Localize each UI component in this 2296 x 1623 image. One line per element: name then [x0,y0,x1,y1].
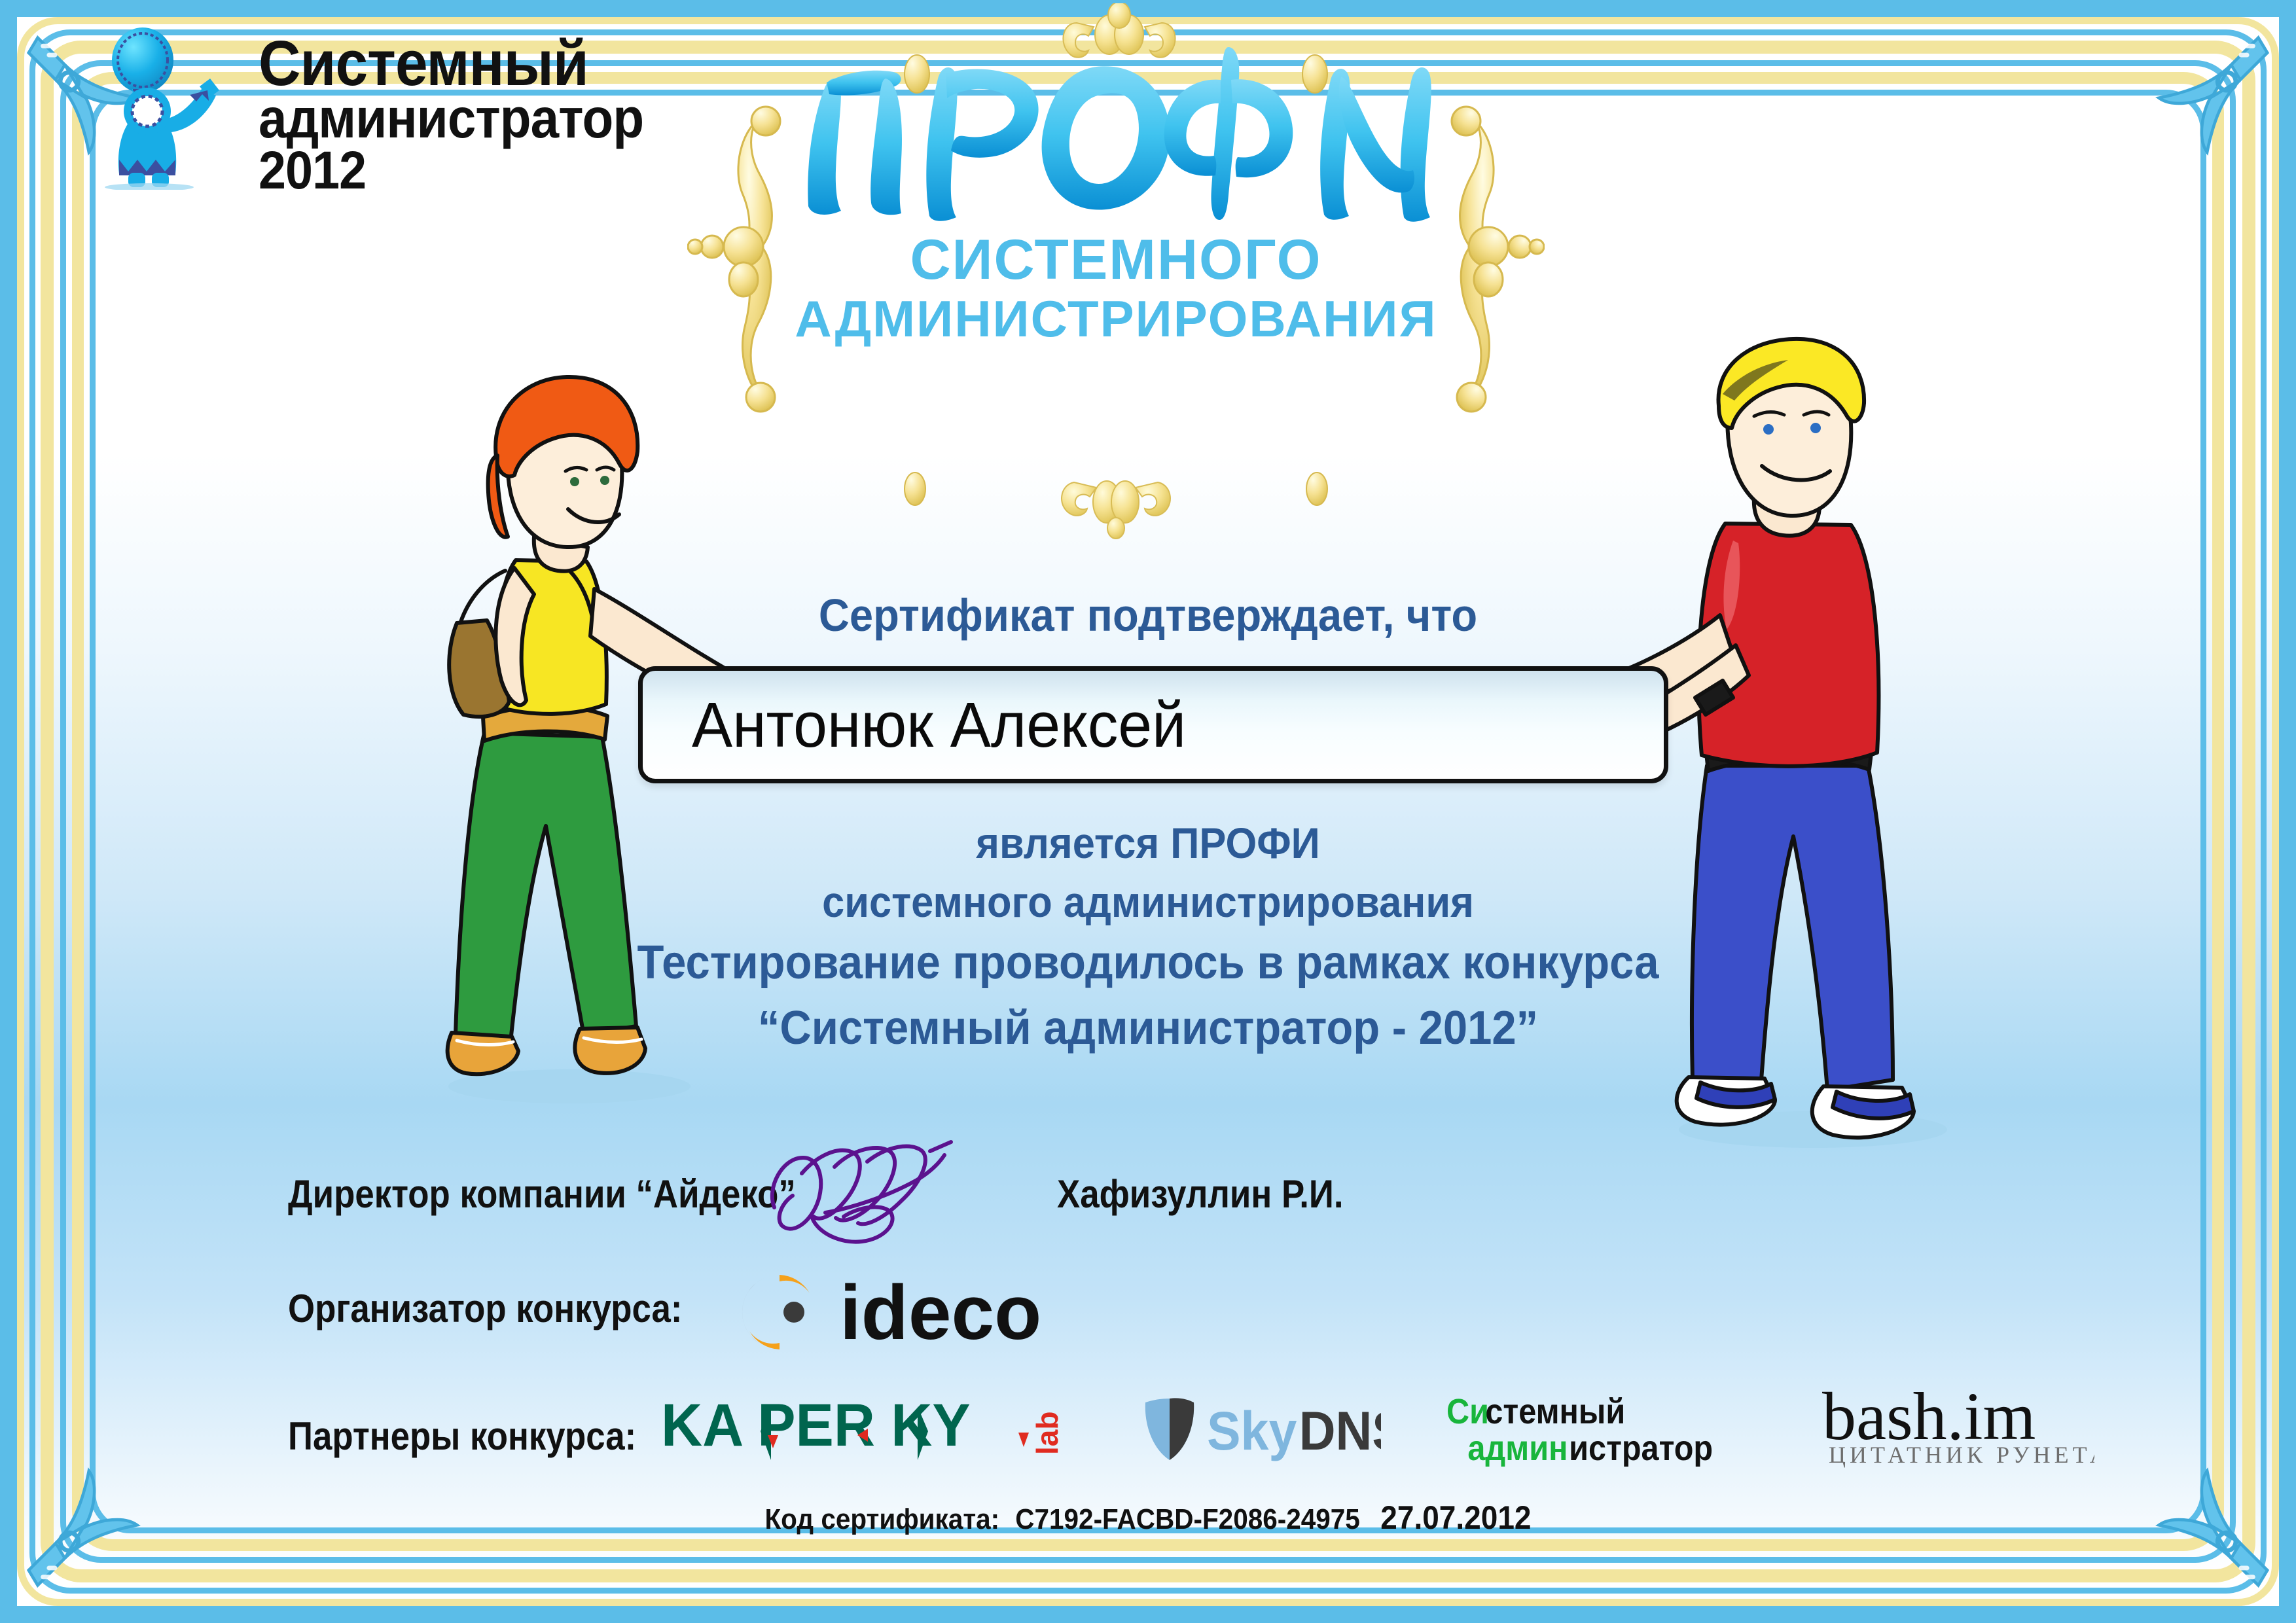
sysadmin-wordmark: Системный администратор 2012 [259,34,743,196]
pliers-corner-icon-top-right [2126,20,2276,170]
brand-line-2: администратор [259,94,704,145]
profi-wordmark [789,39,1443,223]
organizer-label: Организатор конкурса: [288,1286,682,1331]
organizer-row: Организатор конкурса: ideco [288,1263,1728,1361]
partners-label: Партнеры конкурса: [288,1414,636,1459]
issue-date: 27.07.2012 [1380,1499,1531,1536]
gold-bead-bottom-left [903,471,927,507]
certificate-code-line: Код сертификата: C7192-FACBD-F2086-24975… [92,1499,2204,1537]
svg-text:стемный: стемный [1485,1391,1625,1431]
sysadmin-2012-logo: Системный администратор 2012 [92,26,746,190]
ideco-logo: ideco [723,1263,1090,1361]
code-label: Код сертификата: [764,1503,999,1535]
svg-text:ЦИТАТНИК РУНЕТА: ЦИТАТНИК РУНЕТА [1829,1442,2094,1468]
svg-text:lab: lab [1030,1412,1064,1455]
certificate-canvas: Системный администратор 2012 [0,0,2296,1623]
partners-row: Партнеры конкурса: KA PER KY lab Sk [288,1378,2121,1482]
profi-subtitle-1: СИСТЕМНОГО [707,232,1525,288]
profi-heading-block: СИСТЕМНОГО АДМИНИСТРИРОВАНИЯ [707,39,1525,524]
kaspersky-lab-logo: KA PER KY lab [661,1392,1093,1464]
signature-title: Директор компании “Айдеко” [288,1171,796,1217]
handwritten-signature-icon [762,1135,959,1253]
svg-text:админ: админ [1467,1428,1568,1467]
svg-text:DNS: DNS [1299,1400,1381,1462]
signatory-name: Хафизуллин Р.И. [1057,1171,1344,1217]
sysadmin-magazine-logo: Си стемный админ истратор [1446,1389,1774,1467]
eskimo-with-trophy-icon [92,26,259,190]
brand-line-1: Системный [259,34,704,92]
svg-text:ideco: ideco [840,1270,1041,1356]
recipient-name-plaque: Антонюк Алексей [638,666,1668,783]
svg-text:Sky: Sky [1207,1400,1297,1462]
recipient-name: Антонюк Алексей [692,688,1186,762]
gold-ornament-bottom-center [1037,468,1194,540]
svg-text:Си: Си [1446,1391,1489,1431]
code-value: C7192-FACBD-F2086-24975 [1015,1503,1359,1535]
gold-bead-bottom-right [1305,471,1329,507]
brand-line-3: 2012 [259,146,704,195]
skydns-logo: Sky DNS [1139,1395,1381,1465]
profi-subtitle-2: АДМИНИСТРИРОВАНИЯ [707,293,1525,344]
bash-im-logo: bash.im ЦИТАТНИК РУНЕТА [1820,1383,2094,1468]
svg-text:истратор: истратор [1569,1428,1713,1467]
signature-row: Директор компании “Айдеко” Хафизуллин Р.… [288,1158,1597,1237]
